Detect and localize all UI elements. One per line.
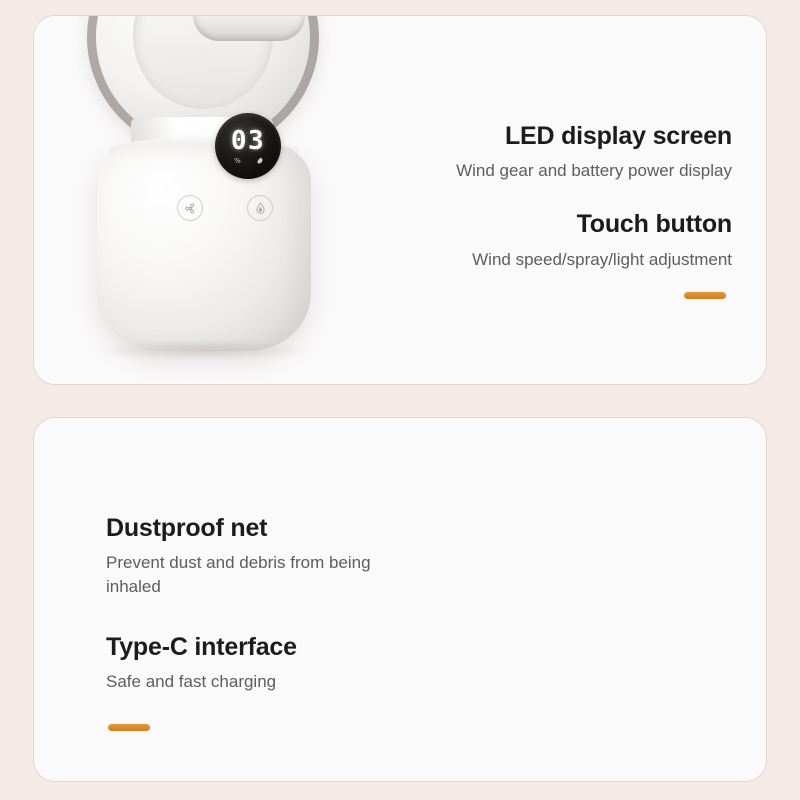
feature-touch-button: Touch button Wind speed/spray/light adju… (312, 209, 732, 271)
fan-air-aperture (193, 15, 305, 41)
led-display-value: 03 (231, 128, 265, 154)
feature-panel-dustproof-typec: Dustproof net Prevent dust and debris fr… (33, 417, 767, 782)
led-display-indicators: % (234, 157, 262, 165)
feature-description: Safe and fast charging (106, 670, 406, 694)
battery-percent-icon: % (234, 157, 241, 165)
feature-text-top: LED display screen Wind gear and battery… (312, 121, 732, 299)
touch-button-fan[interactable] (177, 195, 203, 221)
feature-led-display: LED display screen Wind gear and battery… (312, 121, 732, 183)
feature-title: Type-C interface (106, 632, 406, 663)
feature-description: Prevent dust and debris from being inhal… (106, 551, 406, 599)
product-base-shadow (101, 339, 307, 361)
feature-panel-led-touch: 03 % (33, 15, 767, 385)
feature-text-bottom: Dustproof net Prevent dust and debris fr… (106, 513, 406, 731)
product-feature-infographic: 03 % (0, 0, 800, 800)
water-drop-icon (253, 201, 268, 216)
feature-title: Dustproof net (106, 513, 406, 544)
feature-title: Touch button (312, 209, 732, 240)
product-body (97, 143, 311, 351)
feature-dustproof-net: Dustproof net Prevent dust and debris fr… (106, 513, 406, 600)
led-display-screen: 03 % (215, 113, 281, 179)
feature-title: LED display screen (312, 121, 732, 152)
accent-bar (108, 724, 150, 731)
feature-description: Wind gear and battery power display (312, 159, 732, 183)
feature-description: Wind speed/spray/light adjustment (312, 248, 732, 272)
accent-bar (684, 292, 726, 299)
water-drop-icon (256, 157, 263, 164)
touch-button-spray[interactable] (247, 195, 273, 221)
fan-icon (183, 201, 198, 216)
feature-type-c-interface: Type-C interface Safe and fast charging (106, 632, 406, 694)
